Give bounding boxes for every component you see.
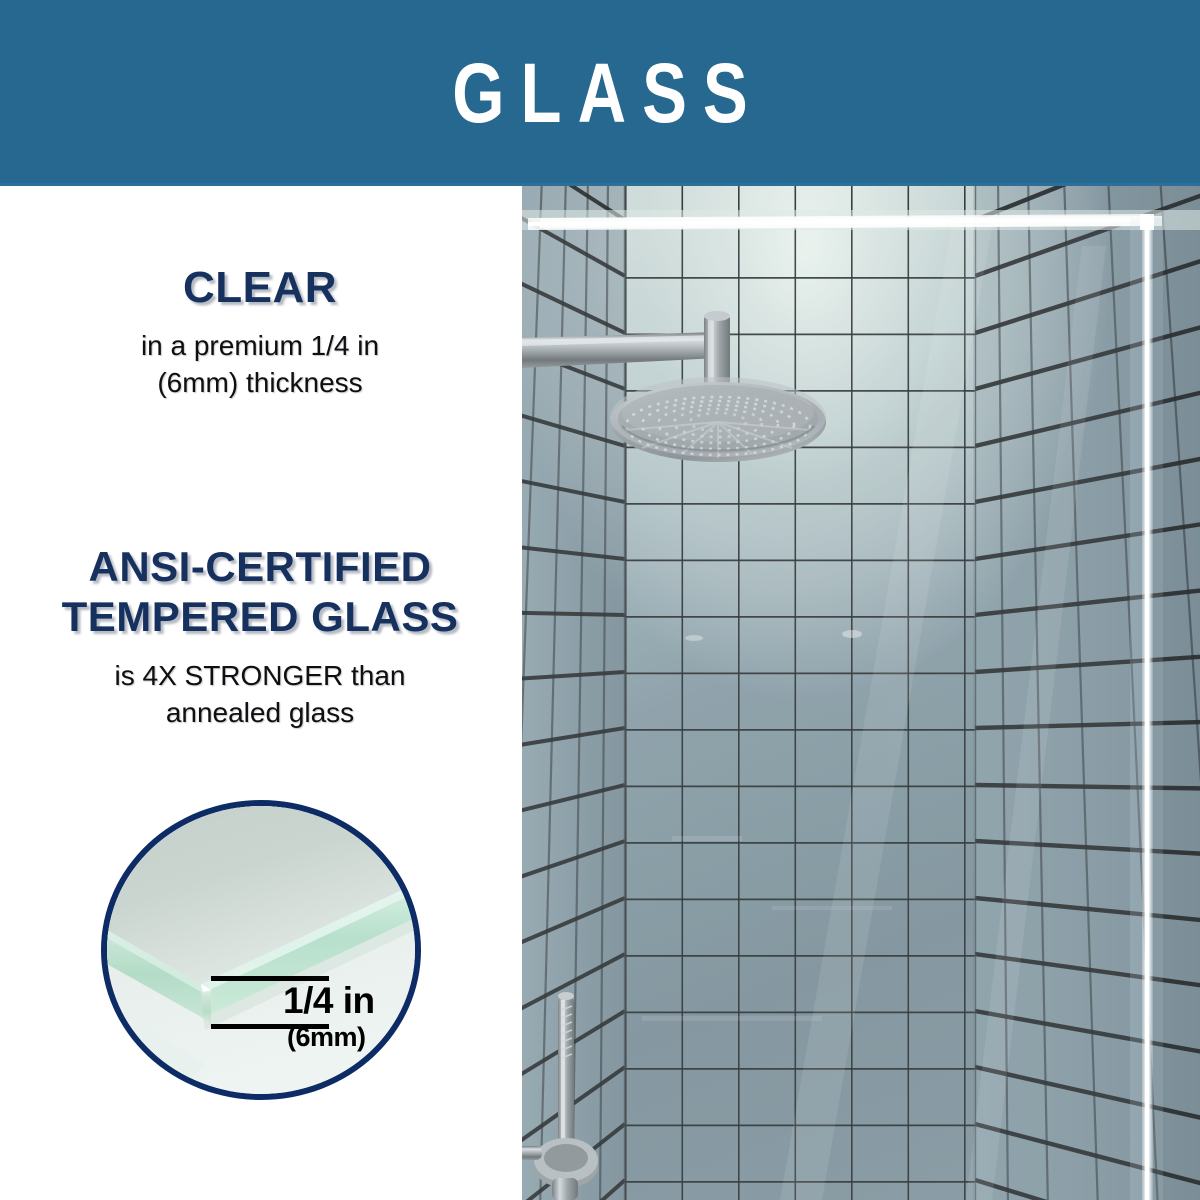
header-banner: GLASS: [0, 0, 1200, 186]
clear-heading: CLEAR: [10, 265, 510, 311]
feature-block-ansi: ANSI-CERTIFIED TEMPERED GLASS is 4X STRO…: [10, 542, 510, 732]
ansi-heading: ANSI-CERTIFIED TEMPERED GLASS: [10, 542, 510, 641]
thickness-label-mm: (6mm): [287, 1022, 366, 1053]
thickness-label-inches: 1/4 in: [283, 980, 375, 1022]
ansi-subtext: is 4X STRONGER than annealed glass: [10, 657, 510, 731]
clear-subtext-line-2: (6mm) thickness: [10, 364, 510, 401]
ansi-subtext-line-1: is 4X STRONGER than: [10, 657, 510, 694]
glass-corner-svg: [107, 806, 415, 1094]
ansi-heading-line-2: TEMPERED GLASS: [10, 592, 510, 642]
ansi-subtext-line-2: annealed glass: [10, 694, 510, 731]
ansi-heading-line-1: ANSI-CERTIFIED: [10, 542, 510, 592]
shower-scene: [522, 186, 1200, 1200]
page-title: GLASS: [120, 0, 1080, 186]
glass-thickness-detail-circle: 1/4 in (6mm): [101, 800, 421, 1100]
shower-photo: [522, 186, 1200, 1200]
feature-block-clear: CLEAR in a premium 1/4 in (6mm) thicknes…: [10, 265, 510, 402]
glass-corner-illustration: [107, 806, 415, 1094]
clear-subtext: in a premium 1/4 in (6mm) thickness: [10, 327, 510, 401]
infographic-page: GLASS CLEAR in a premium 1/4 in (6mm) th…: [0, 0, 1200, 1200]
clear-subtext-line-1: in a premium 1/4 in: [10, 327, 510, 364]
shower-render-svg: [522, 186, 1200, 1200]
